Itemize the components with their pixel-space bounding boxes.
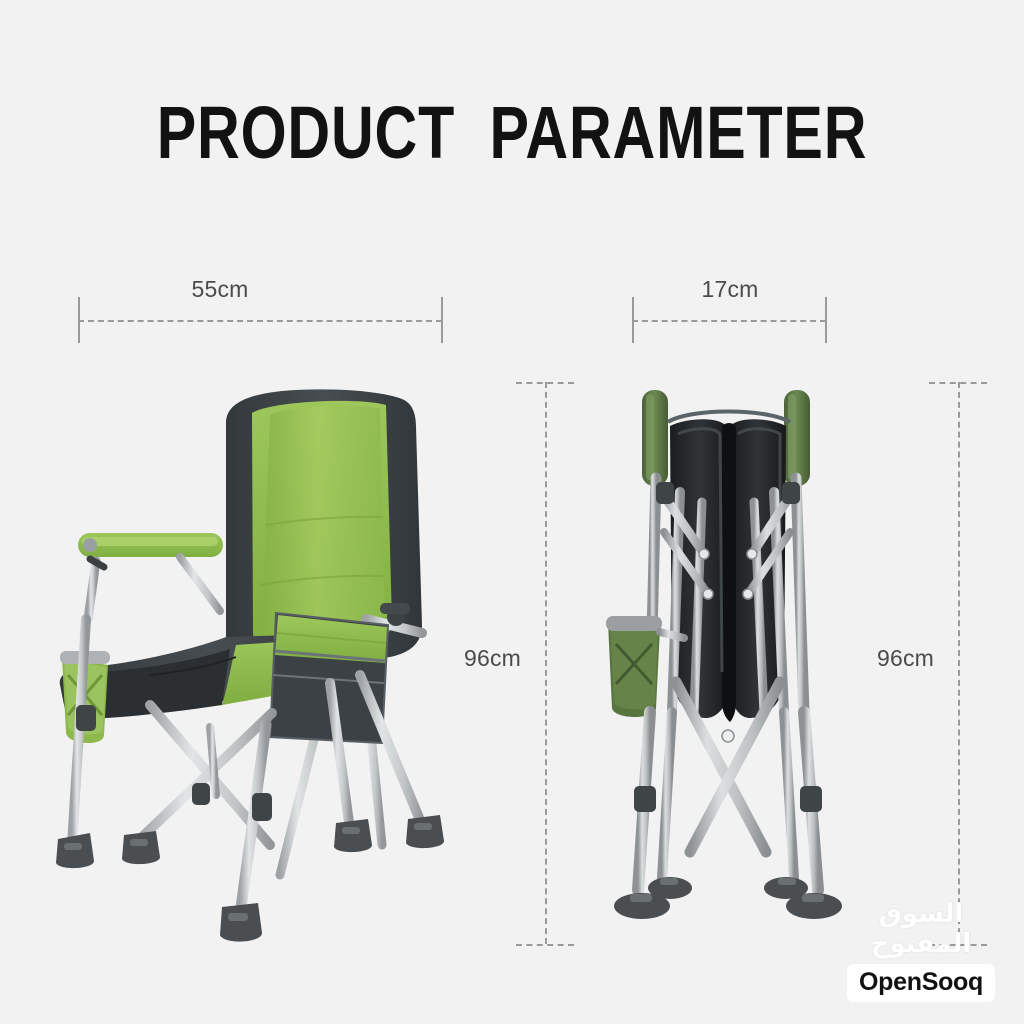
- open-chair-armrest-left: [78, 533, 223, 619]
- open-chair-side-pocket: [270, 613, 388, 743]
- dimension-label-folded-height: 96cm: [877, 645, 934, 672]
- dimension-line-open-height: [545, 382, 547, 944]
- page-title: PRODUCT PARAMETER: [102, 96, 921, 170]
- dimension-label-open-height: 96cm: [464, 645, 521, 672]
- dimension-line-folded-height: [958, 382, 960, 944]
- opensooq-watermark: السوق المفتوح OpenSooq: [836, 899, 1006, 1002]
- dimension-tick-folded-width-right: [825, 297, 827, 343]
- product-image-open-chair: [30, 375, 450, 945]
- dimension-label-folded-width: 17cm: [630, 276, 830, 303]
- dimension-line-folded-width: [632, 320, 826, 322]
- dimension-tick-open-width-left: [78, 297, 80, 343]
- dimension-cap-folded-height-top: [929, 382, 987, 384]
- watermark-arabic-text: السوق المفتوح: [836, 899, 1006, 959]
- dimension-line-open-width: [78, 320, 442, 322]
- product-parameter-image: PRODUCT PARAMETER 55cm 17cm 96cm 96cm: [0, 0, 1024, 1024]
- folded-chair-feet: [614, 877, 842, 919]
- product-image-folded-chair: [598, 382, 868, 947]
- dimension-tick-open-width-right: [441, 297, 443, 343]
- watermark-brand-badge: OpenSooq: [847, 964, 995, 1002]
- folded-chair-cross-pivot: [722, 730, 734, 742]
- dimension-label-open-width: 55cm: [0, 276, 440, 303]
- dimension-cap-open-height-bottom: [516, 944, 574, 946]
- dimension-tick-folded-width-left: [632, 297, 634, 343]
- dimension-cap-open-height-top: [516, 382, 574, 384]
